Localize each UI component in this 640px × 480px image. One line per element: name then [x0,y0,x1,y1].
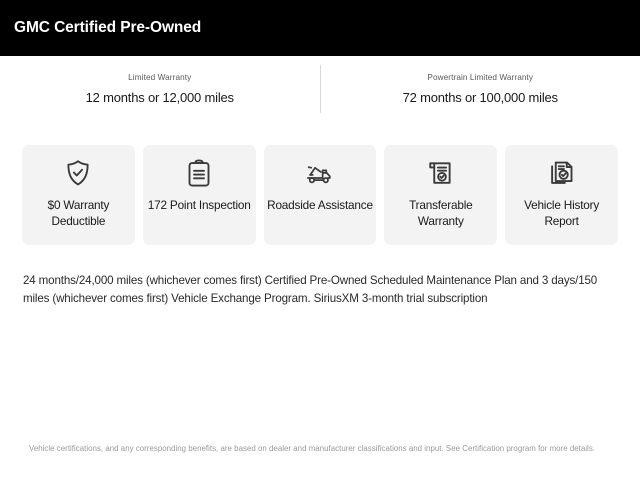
powertrain-warranty-block: Powertrain Limited Warranty 72 months or… [321,73,640,105]
feature-card-label: $0 Warranty Deductible [22,197,135,230]
feature-cards-row: $0 Warranty Deductible 172 Point Inspect… [22,145,618,245]
warranty-summary-row: Limited Warranty 12 months or 12,000 mil… [0,56,640,122]
limited-warranty-block: Limited Warranty 12 months or 12,000 mil… [0,73,320,105]
feature-card-point-inspection: 172 Point Inspection [143,145,256,245]
document-check-icon [426,158,456,188]
certified-pre-owned-page: GMC Certified Pre-Owned Limited Warranty… [0,0,640,480]
feature-card-label: Transferable Warranty [384,197,497,230]
shield-check-icon [63,158,93,188]
page-header: GMC Certified Pre-Owned [0,0,640,56]
program-details-text: 24 months/24,000 miles (whichever comes … [23,272,623,308]
feature-card-roadside-assistance: Roadside Assistance [264,145,377,245]
tow-truck-icon [305,158,335,188]
feature-card-warranty-deductible: $0 Warranty Deductible [22,145,135,245]
powertrain-warranty-value: 72 months or 100,000 miles [333,90,629,106]
limited-warranty-label: Limited Warranty [12,73,308,84]
page-title: GMC Certified Pre-Owned [14,19,201,37]
feature-card-transferable-warranty: Transferable Warranty [384,145,497,245]
feature-card-label: Vehicle History Report [505,197,618,230]
clipboard-icon [184,158,214,188]
feature-card-label: 172 Point Inspection [145,197,254,213]
feature-card-label: Roadside Assistance [264,197,376,213]
disclaimer-text: Vehicle certifications, and any correspo… [29,443,619,455]
feature-card-vehicle-history-report: Vehicle History Report [505,145,618,245]
documents-stack-check-icon [547,158,577,188]
powertrain-warranty-label: Powertrain Limited Warranty [333,73,629,84]
limited-warranty-value: 12 months or 12,000 miles [12,90,308,106]
